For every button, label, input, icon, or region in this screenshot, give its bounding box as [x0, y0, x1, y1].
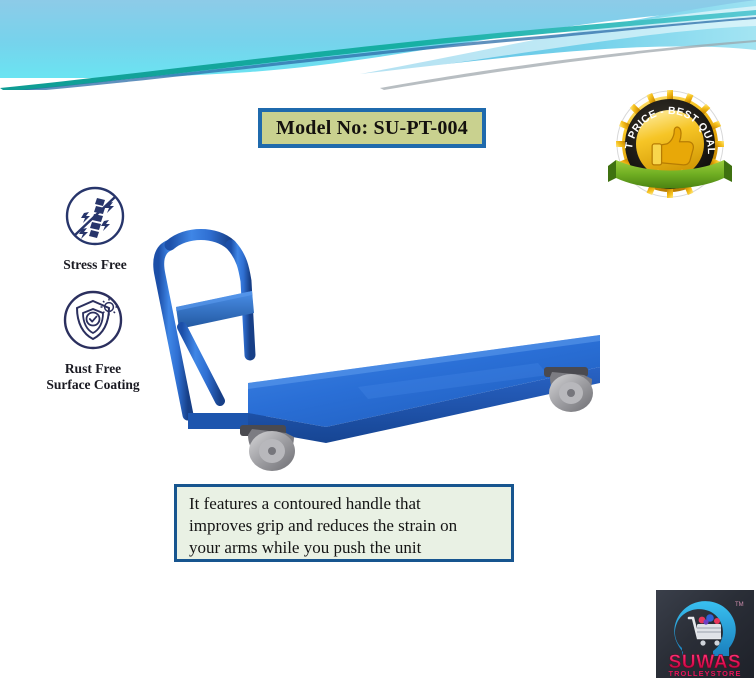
no-back-strain-icon [60, 183, 130, 253]
logo-tagline-text: TROLLEYSTORE [668, 669, 741, 678]
suwas-trolleystore-logo: TM SUWAS TROLLEYSTORE [656, 590, 754, 678]
model-number-banner: Model No: SU-PT-004 [258, 108, 486, 148]
logo-trademark-text: TM [735, 602, 744, 608]
blue-platform-trolley-photo [148, 215, 618, 485]
product-description-line-1: It features a contoured handle that [189, 493, 501, 515]
feature-rust-free: Rust Free Surface Coating [18, 287, 168, 393]
product-spec-page: Model No: SU-PT-004 [0, 0, 756, 680]
product-description-line-3: your arms while you push the unit [189, 537, 501, 559]
feature-rust-free-label: Rust Free Surface Coating [18, 361, 168, 393]
trolley-caster-right [544, 367, 593, 412]
product-description-line-2: improves grip and reduces the strain on [189, 515, 501, 537]
feature-rust-free-label-line1: Rust Free [18, 361, 168, 377]
feature-rust-free-label-line2: Surface Coating [18, 377, 168, 393]
product-description-box: It features a contoured handle that impr… [174, 484, 514, 562]
best-price-best-quality-seal: BEST PRICE - BEST QUALITY [606, 82, 734, 210]
wave-banner-decoration [0, 0, 756, 90]
model-number-text: Model No: SU-PT-004 [276, 117, 468, 140]
rust-free-shield-icon [58, 287, 128, 357]
